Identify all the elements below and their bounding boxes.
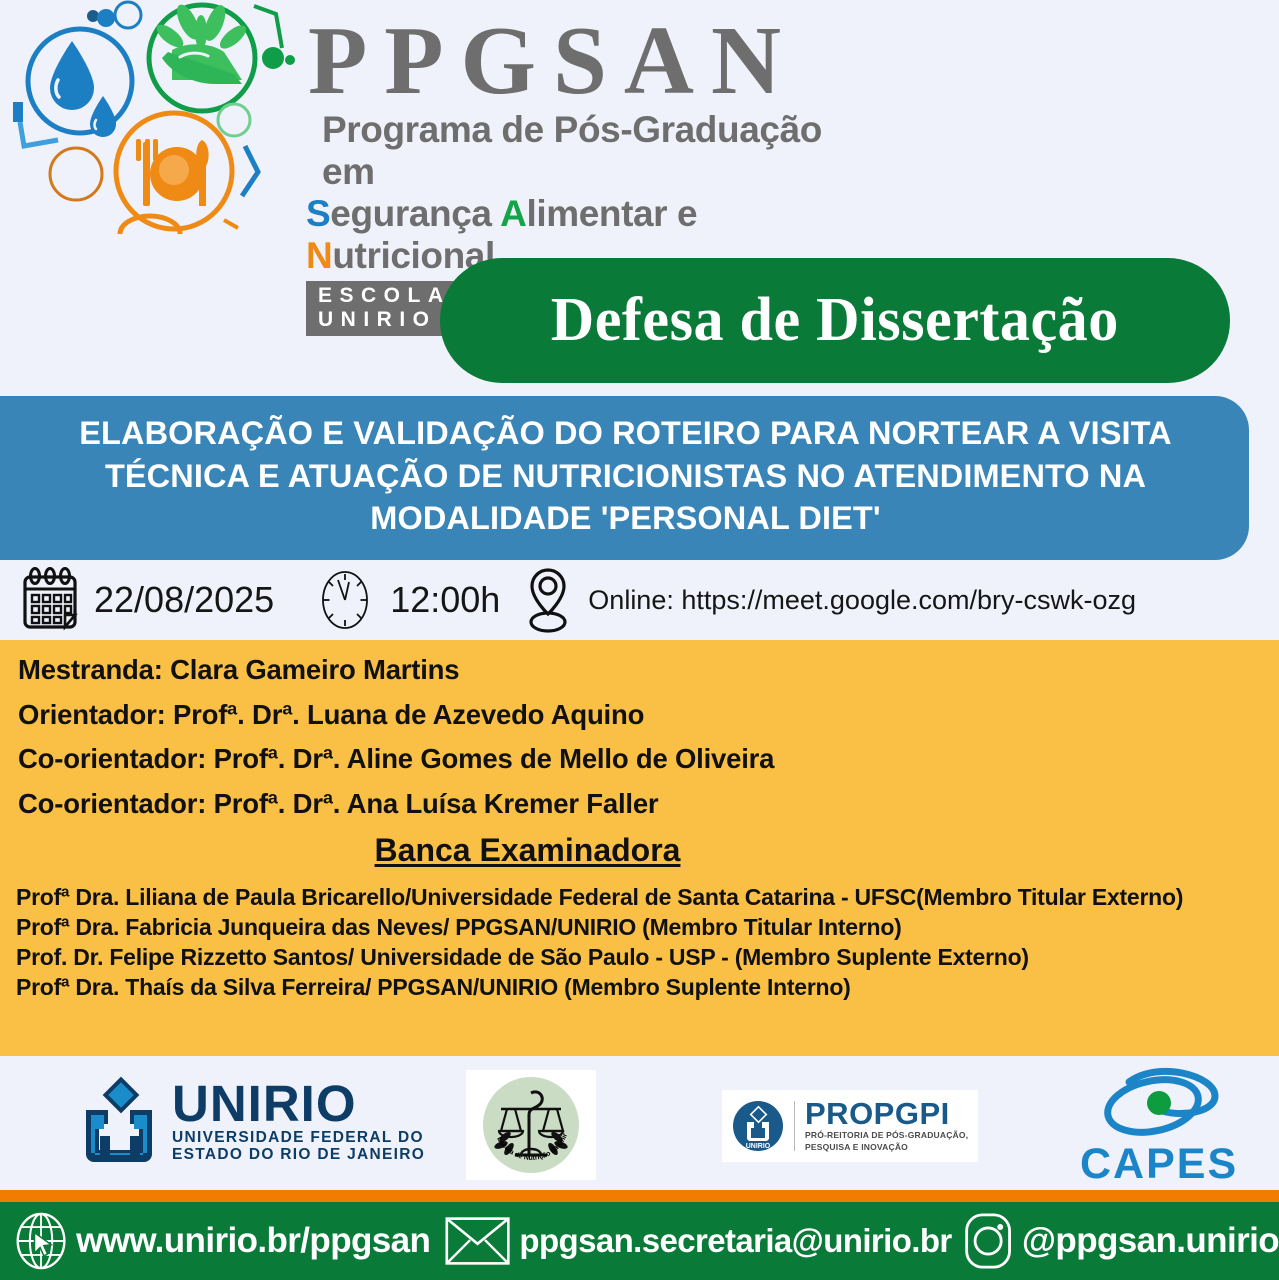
- propgpi-badge-icon: UNIRIO: [732, 1100, 784, 1152]
- propgpi-sub-line2: PESQUISA E INOVAÇÃO: [805, 1141, 968, 1153]
- unirio-logo: UNIRIO UNIVERSIDADE FEDERAL DO ESTADO DO…: [78, 1076, 425, 1168]
- ppgsan-subtitle-line1: Programa de Pós-Graduação em: [300, 109, 860, 193]
- committee-heading: Banca Examinadora: [14, 832, 1271, 869]
- envelope-icon: [444, 1212, 511, 1270]
- participant-line: Orientador: Profª. Drª. Luana de Azevedo…: [14, 701, 1271, 729]
- event-type-label: Defesa de Dissertação: [551, 285, 1119, 356]
- unirio-mark-icon: [78, 1076, 162, 1168]
- propgpi-badge-label: UNIRIO: [746, 1143, 771, 1150]
- footer-website[interactable]: www.unirio.br/ppgsan: [76, 1221, 430, 1261]
- propgpi-wordmark: PROPGPI: [805, 1098, 968, 1129]
- committee-member: Prof. Dr. Felipe Rizzetto Santos/ Univer…: [14, 943, 1271, 973]
- unirio-sub-line2: ESTADO DO RIO DE JANEIRO: [172, 1146, 425, 1163]
- participant-line: Mestranda: Clara Gameiro Martins: [14, 656, 1271, 684]
- ppgsan-acronym: PPGSAN: [300, 8, 860, 115]
- page-title: ELABORAÇÃO E VALIDAÇÃO DO ROTEIRO PARA N…: [36, 412, 1215, 540]
- committee-member: Profª Dra. Liliana de Paula Bricarello/U…: [14, 883, 1271, 913]
- orange-divider: [0, 1190, 1279, 1202]
- committee-member: Profª Dra. Fabricia Junqueira das Neves/…: [14, 913, 1271, 943]
- instagram-icon: [962, 1208, 1014, 1274]
- participant-line: Co-orientador: Profª. Drª. Ana Luísa Kre…: [14, 790, 1271, 818]
- capes-mark-icon: [1089, 1066, 1229, 1138]
- event-location-text: Online: https://meet.google.com/bry-cswk…: [588, 585, 1136, 616]
- event-time-text: 12:00h: [390, 579, 500, 621]
- event-time: 12:00h: [274, 569, 500, 631]
- footer-instagram[interactable]: @ppgsan.unirio: [1022, 1221, 1279, 1261]
- committee-member: Profª Dra. Thaís da Silva Ferreira/ PPGS…: [14, 973, 1271, 1003]
- event-date-text: 22/08/2025: [94, 579, 274, 621]
- ppgsan-emblem: [2, 0, 302, 248]
- sponsor-logo-strip: UNIRIO UNIVERSIDADE FEDERAL DO ESTADO DO…: [0, 1056, 1279, 1190]
- capes-logo: CAPES: [1080, 1066, 1238, 1186]
- divider: [794, 1101, 795, 1151]
- poster-canvas: PPGSAN Programa de Pós-Graduação em Segu…: [0, 0, 1279, 1280]
- thesis-title-banner: ELABORAÇÃO E VALIDAÇÃO DO ROTEIRO PARA N…: [0, 396, 1249, 560]
- unirio-sub-line1: UNIVERSIDADE FEDERAL DO: [172, 1129, 425, 1146]
- propgpi-logo: UNIRIO PROPGPI PRÓ-REITORIA DE PÓS-GRADU…: [722, 1090, 978, 1162]
- capes-wordmark: CAPES: [1080, 1143, 1238, 1186]
- contact-footer: www.unirio.br/ppgsan ppgsan.secretaria@u…: [0, 1202, 1279, 1280]
- event-date: 22/08/2025: [0, 567, 274, 633]
- participant-line: Co-orientador: Profª. Drª. Aline Gomes d…: [14, 745, 1271, 773]
- globe-cursor-icon: [14, 1210, 68, 1272]
- event-type-banner: Defesa de Dissertação: [440, 258, 1230, 383]
- calendar-icon: [20, 567, 80, 633]
- footer-email[interactable]: ppgsan.secretaria@unirio.br: [519, 1222, 951, 1260]
- propgpi-sub-line1: PRÓ-REITORIA DE PÓS-GRADUAÇÃO,: [805, 1129, 968, 1141]
- poster-header: PPGSAN Programa de Pós-Graduação em Segu…: [0, 0, 1279, 252]
- event-meta-row: 22/08/2025 12:00h: [0, 560, 1279, 640]
- clock-icon: [318, 569, 372, 631]
- event-location: Online: https://meet.google.com/bry-cswk…: [500, 566, 1136, 634]
- map-pin-icon: [522, 566, 574, 634]
- unirio-wordmark: UNIRIO: [172, 1080, 425, 1128]
- participants-panel: Mestranda: Clara Gameiro Martins Orienta…: [0, 640, 1279, 1056]
- scales-caduceus-icon: Escola de Nutrição da Unirio: [479, 1073, 583, 1177]
- escola-de-nutricao-logo: Escola de Nutrição da Unirio: [466, 1070, 596, 1180]
